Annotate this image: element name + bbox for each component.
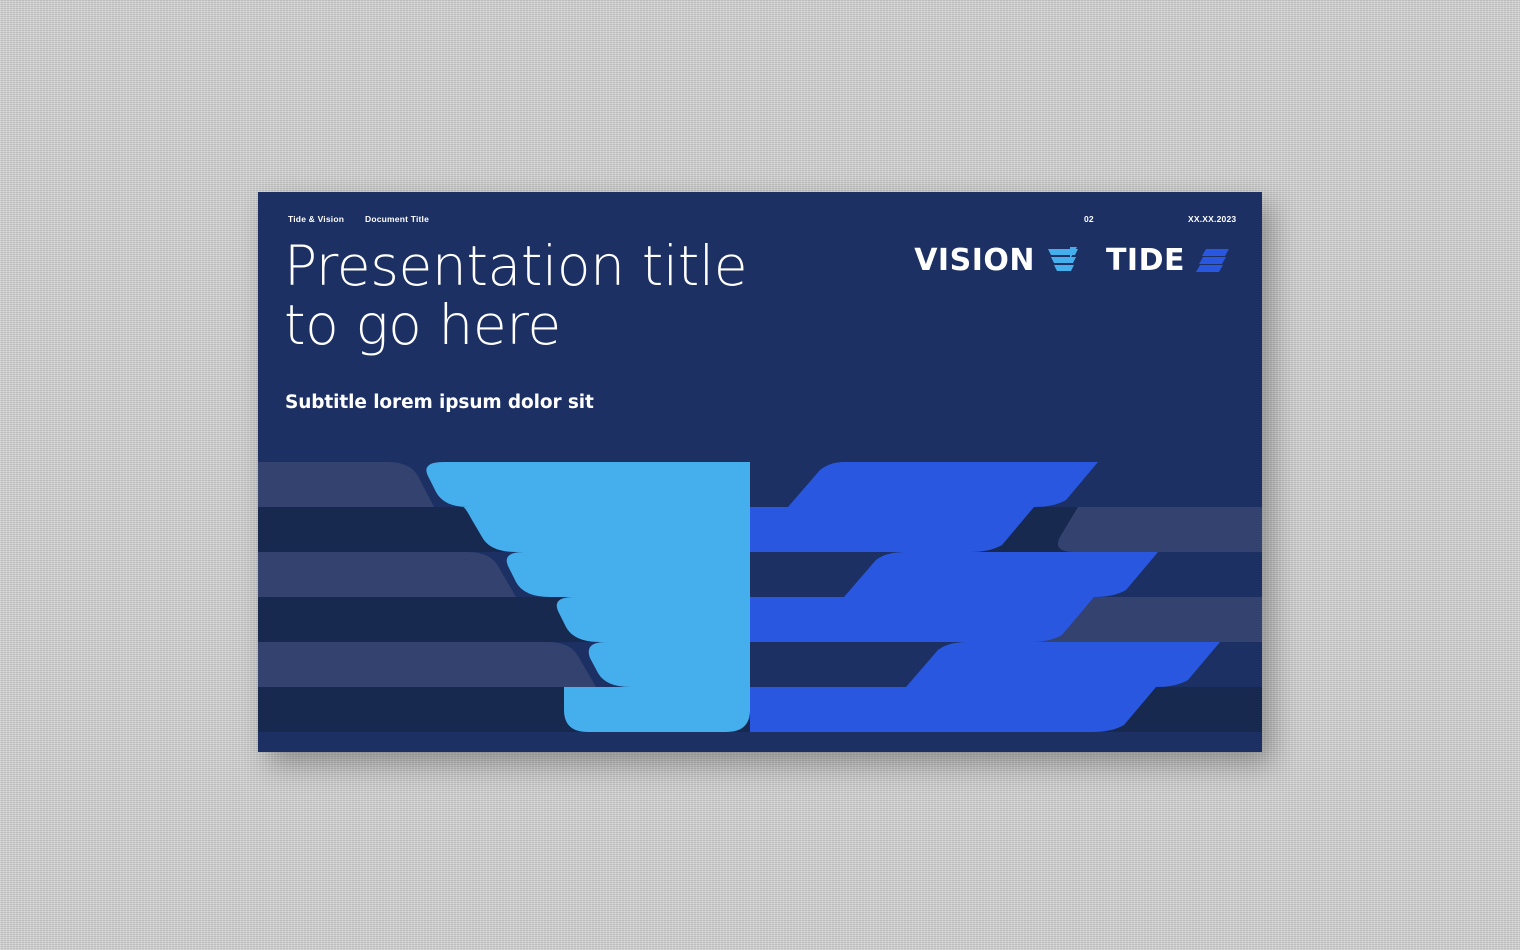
wave-tint-band xyxy=(258,642,596,687)
wave-tint-band xyxy=(258,552,516,597)
wave-shape-bright xyxy=(906,642,1220,687)
header-page-number: 02 xyxy=(1084,214,1094,224)
wave-shape-light xyxy=(507,552,750,597)
header-brand: Tide & Vision xyxy=(288,214,344,224)
wave-shape-light xyxy=(463,507,750,552)
vision-wave-mark xyxy=(1046,246,1080,276)
tide-logo[interactable]: TIDE xyxy=(1106,246,1230,276)
wave-tint-band xyxy=(1058,507,1262,552)
wave-shape-bright xyxy=(750,597,1094,642)
wave-shape-bright xyxy=(750,687,1156,732)
header-document-title: Document Title xyxy=(365,214,429,224)
wave-stripes-graphic xyxy=(258,462,1262,752)
wave-shape-light xyxy=(589,642,750,687)
page-subtitle: Subtitle lorem ipsum dolor sit xyxy=(285,392,594,413)
logo-lockup-group: VISION TIDE xyxy=(914,246,1230,276)
wave-stripes-svg xyxy=(258,462,1262,752)
vision-wordmark: VISION xyxy=(914,246,1035,276)
wave-shape-light xyxy=(564,687,750,732)
header-date: XX.XX.2023 xyxy=(1188,214,1236,224)
presentation-slide[interactable]: Tide & Vision Document Title 02 XX.XX.20… xyxy=(258,192,1262,752)
wave-shape-bright xyxy=(750,507,1034,552)
wave-shape-light xyxy=(426,462,750,507)
tide-wordmark: TIDE xyxy=(1106,246,1185,276)
title-line-2: to go here xyxy=(284,296,944,355)
wave-tint-band xyxy=(258,462,434,507)
wave-shape-bright xyxy=(788,462,1098,507)
slide-header: Tide & Vision Document Title 02 XX.XX.20… xyxy=(258,214,1262,228)
wave-shape-light xyxy=(557,597,750,642)
page-title: Presentation title to go here xyxy=(284,237,944,355)
title-line-1: Presentation title xyxy=(284,234,747,298)
vision-logo[interactable]: VISION xyxy=(914,246,1080,276)
tide-wave-mark xyxy=(1196,246,1230,276)
wave-shape-bright xyxy=(844,552,1158,597)
